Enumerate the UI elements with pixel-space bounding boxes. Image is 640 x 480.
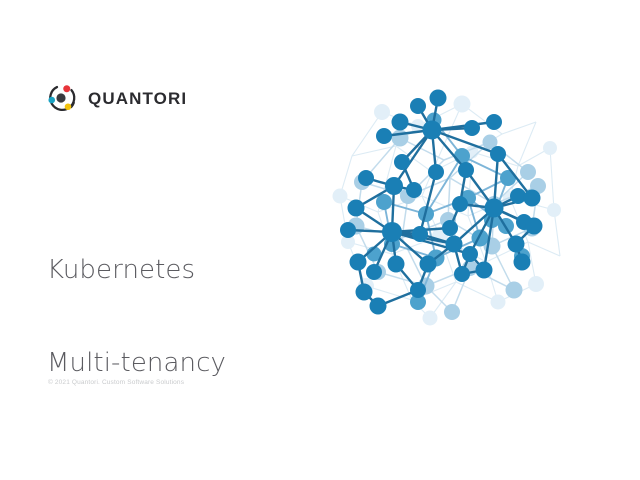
brand-wordmark: QUANTORI [88, 90, 187, 107]
quantori-atom-logo-icon [46, 82, 78, 114]
brand-logo[interactable]: QUANTORI [46, 82, 187, 114]
network-node-illustration [322, 86, 578, 330]
page-title-line-1: Kubernetes [47, 255, 226, 286]
copyright-notice: © 2021 Quantori. Custom Software Solutio… [48, 379, 184, 386]
page-title-line-2: Multi-tenancy [47, 348, 226, 379]
page-title: Kubernetes Multi-tenancy [47, 193, 226, 441]
slide-canvas: QUANTORI Kubernetes Multi-tenancy © 2021… [0, 0, 640, 480]
